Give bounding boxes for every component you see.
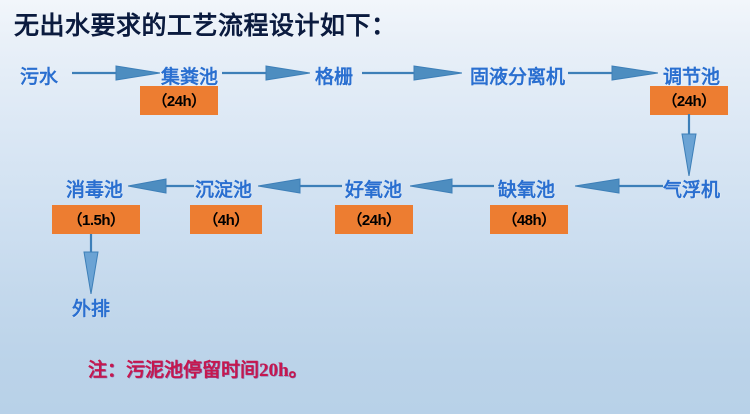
slide-canvas: 无出水要求的工艺流程设计如下： 污水 集粪池 （24h） 格栅 固液分离机 调节… [0, 0, 750, 414]
arrow-right-grate-to-separator [362, 62, 462, 84]
duration-box-regulating-tank: （24h） [650, 86, 728, 115]
arrow-left-aerobic-to-sedimentation-tank [258, 175, 342, 197]
node-air-flotation-machine: 气浮机 [663, 175, 720, 202]
arrow-right-wastewater-to-manure-tank [72, 62, 160, 84]
arrow-left-flotation-to-anoxic-tank [575, 175, 663, 197]
arrow-down-disinfection-to-outlet [78, 234, 104, 294]
node-solid-liquid-separator: 固液分离机 [470, 62, 565, 89]
duration-box-aerobic-tank: （24h） [335, 205, 413, 234]
arrow-down-regulating-tank-to-flotation [676, 114, 702, 176]
footnote-sludge-tank: 注：污泥池停留时间20h。 [88, 355, 308, 382]
node-grate: 格栅 [315, 62, 353, 89]
node-anoxic-tank: 缺氧池 [498, 175, 555, 202]
page-title: 无出水要求的工艺流程设计如下： [14, 6, 397, 42]
duration-box-manure-tank: （24h） [140, 86, 218, 115]
node-regulating-tank: 调节池 [663, 62, 720, 89]
node-outlet-discharge: 外排 [72, 294, 110, 321]
node-aerobic-tank: 好氧池 [345, 175, 402, 202]
duration-box-anoxic-tank: （48h） [490, 205, 568, 234]
node-disinfection-tank: 消毒池 [66, 175, 123, 202]
arrow-left-sedimentation-to-disinfection-tank [128, 175, 194, 197]
arrow-left-anoxic-to-aerobic-tank [410, 175, 494, 197]
node-sedimentation-tank: 沉淀池 [195, 175, 252, 202]
arrow-right-manure-tank-to-grate [222, 62, 310, 84]
duration-box-sedimentation-tank: （4h） [190, 205, 262, 234]
arrow-right-separator-to-regulating-tank [568, 62, 658, 84]
node-wastewater: 污水 [20, 62, 58, 89]
node-manure-tank: 集粪池 [161, 62, 218, 89]
duration-box-disinfection-tank: （1.5h） [52, 205, 140, 234]
